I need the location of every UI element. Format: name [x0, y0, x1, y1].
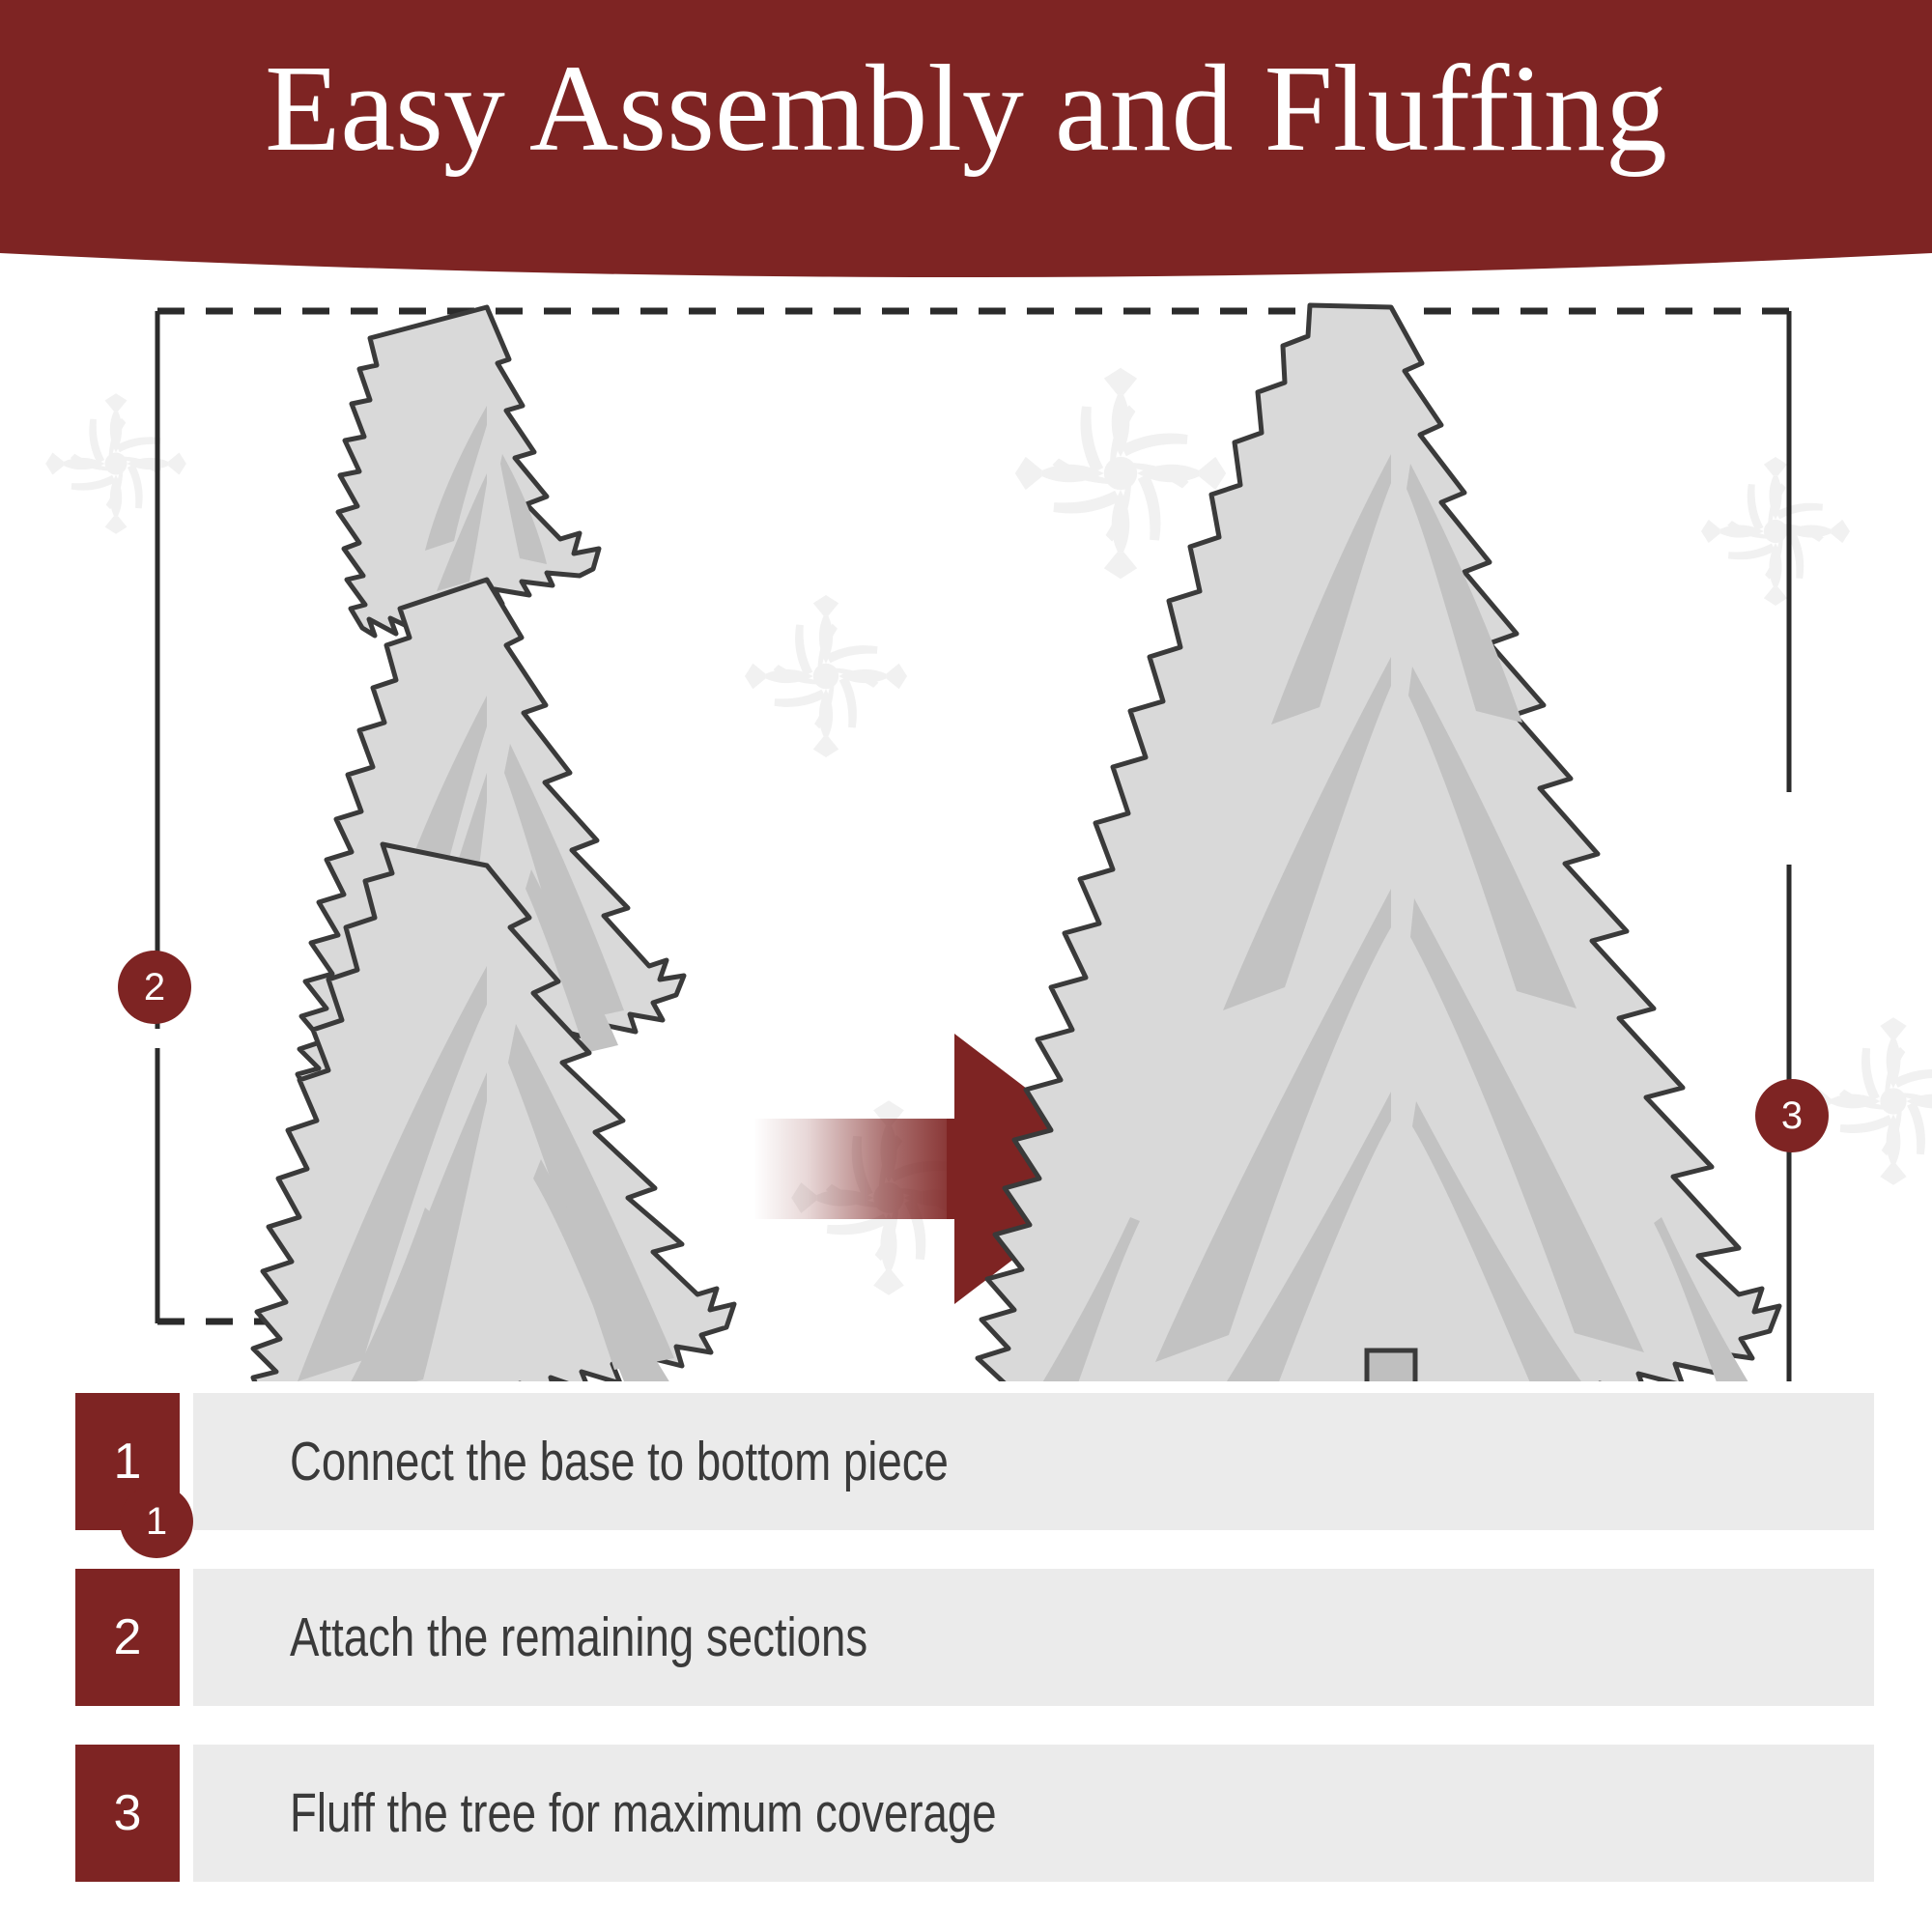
step-text-bar: Fluff the tree for maximum coverage [193, 1745, 1874, 1882]
diagram-marker-2-label: 2 [144, 968, 165, 1007]
step-description: Connect the base to bottom piece [290, 1430, 949, 1493]
diagram-marker-3-label: 3 [1781, 1096, 1803, 1135]
assembly-diagram: 2 1 3 [0, 290, 1932, 1381]
steps-list: 1 Connect the base to bottom piece 2 Att… [0, 1393, 1932, 1920]
diagram-marker-1[interactable]: 1 [120, 1485, 193, 1558]
step-number-badge: 3 [75, 1745, 180, 1882]
christmas-tree-icon [253, 844, 734, 1381]
step-row[interactable]: 2 Attach the remaining sections [0, 1569, 1932, 1706]
step-number-badge: 2 [75, 1569, 180, 1706]
snowflake-icon [45, 393, 186, 534]
tree-section-bottom [253, 844, 734, 1381]
infographic-canvas: Easy Assembly and Fluffing [0, 0, 1932, 1932]
step-description: Attach the remaining sections [290, 1605, 867, 1669]
step-text-bar: Attach the remaining sections [193, 1569, 1874, 1706]
step-text-bar: Connect the base to bottom piece [193, 1393, 1874, 1530]
step-row[interactable]: 1 Connect the base to bottom piece [0, 1393, 1932, 1530]
diagram-svg [0, 290, 1932, 1381]
snowflake-icon [745, 595, 907, 757]
snowflake-icon [1701, 457, 1850, 606]
step-row[interactable]: 3 Fluff the tree for maximum coverage [0, 1745, 1932, 1882]
step-number-label: 3 [114, 1784, 142, 1842]
step-number-label: 1 [114, 1433, 142, 1491]
diagram-marker-1-label: 1 [146, 1502, 167, 1541]
step-number-label: 2 [114, 1608, 142, 1666]
header-banner: Easy Assembly and Fluffing [0, 0, 1932, 290]
diagram-marker-2[interactable]: 2 [118, 951, 191, 1024]
page-title: Easy Assembly and Fluffing [0, 46, 1932, 170]
snowflake-icon [1809, 1017, 1932, 1185]
tree-trunk [1367, 1350, 1415, 1381]
step-description: Fluff the tree for maximum coverage [290, 1781, 997, 1845]
diagram-marker-3[interactable]: 3 [1755, 1079, 1829, 1152]
